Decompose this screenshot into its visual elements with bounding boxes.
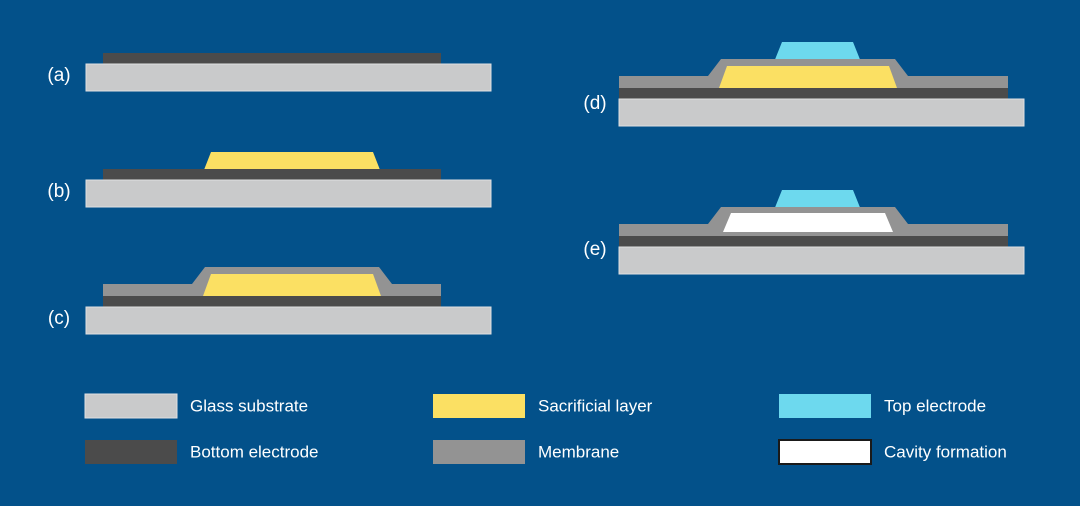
legend-label-sacrificial-layer: Sacrificial layer	[538, 396, 653, 415]
panel-b-label: (b)	[47, 181, 70, 202]
panel-d-glass-substrate	[619, 99, 1024, 126]
legend-swatch-membrane	[433, 440, 525, 464]
panel-c-glass-substrate	[86, 307, 491, 334]
legend-label-bottom-electrode: Bottom electrode	[190, 442, 319, 461]
panel-e-label: (e)	[583, 239, 606, 260]
panel-d-label: (d)	[583, 93, 606, 114]
legend-item-sacrificial-layer: Sacrificial layer	[433, 394, 653, 418]
fabrication-process-diagram: (a) (b) (c) (d)	[0, 0, 1080, 506]
legend-label-top-electrode: Top electrode	[884, 396, 986, 415]
legend-swatch-bottom-electrode	[85, 440, 177, 464]
legend-item-bottom-electrode: Bottom electrode	[85, 440, 319, 464]
panel-d-bottom-electrode	[619, 88, 1008, 99]
legend-label-glass-substrate: Glass substrate	[190, 396, 308, 415]
panel-b-bottom-electrode	[103, 169, 441, 180]
panel-a-bottom-electrode	[103, 53, 441, 64]
panel-d-sacrificial-layer	[719, 66, 897, 88]
panel-b-glass-substrate	[86, 180, 491, 207]
legend-label-cavity-formation: Cavity formation	[884, 442, 1007, 461]
legend-swatch-glass-substrate	[85, 394, 177, 418]
panel-c-label: (c)	[48, 308, 70, 329]
panel-e-cavity	[723, 213, 893, 232]
legend-swatch-top-electrode	[779, 394, 871, 418]
panel-e-glass-substrate	[619, 247, 1024, 274]
legend-swatch-sacrificial-layer	[433, 394, 525, 418]
panel-a: (a)	[47, 53, 491, 91]
panel-c-sacrificial-layer	[203, 274, 381, 296]
panel-a-label: (a)	[47, 65, 70, 86]
legend-item-glass-substrate: Glass substrate	[85, 394, 308, 418]
panel-c-bottom-electrode	[103, 296, 441, 307]
legend-swatch-cavity-formation	[779, 440, 871, 464]
legend-item-cavity-formation: Cavity formation	[779, 440, 1007, 464]
legend-label-membrane: Membrane	[538, 442, 619, 461]
panel-a-glass-substrate	[86, 64, 491, 91]
panel-e-bottom-electrode	[619, 236, 1008, 247]
